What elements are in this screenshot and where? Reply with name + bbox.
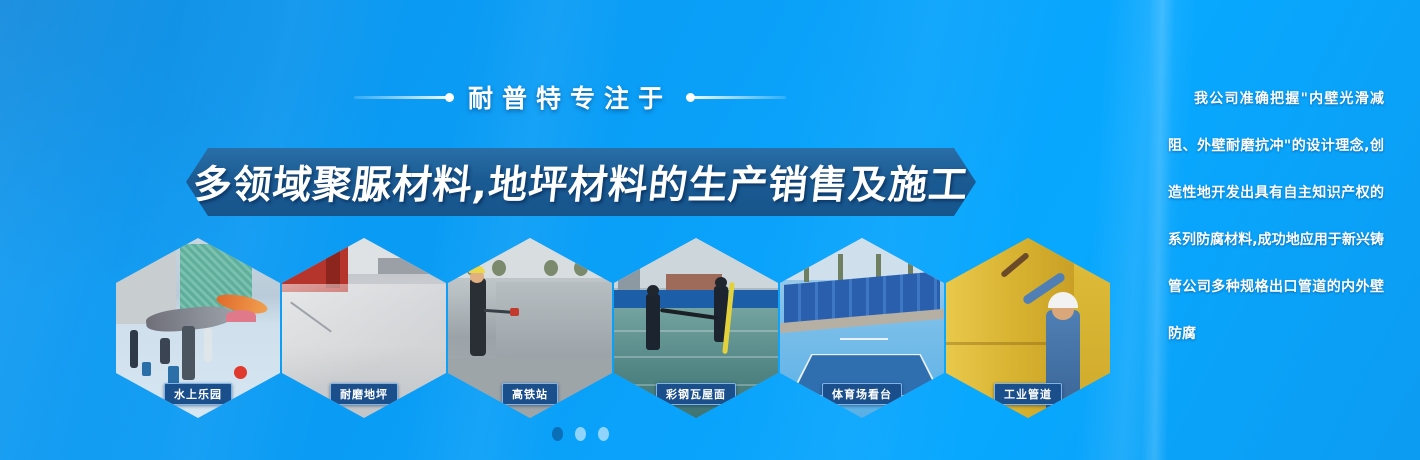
- decorative-line-right: [690, 96, 786, 99]
- company-description-text: 我公司准确把握"内壁光滑减阻、外壁耐磨抗冲"的设计理念,创造性地开发出具有自主知…: [1168, 76, 1384, 358]
- eyebrow-text: 耐普特专注于: [468, 79, 672, 115]
- carousel-indicators[interactable]: [0, 424, 1160, 444]
- gallery-item-high-speed-rail-station[interactable]: 高铁站: [448, 238, 612, 418]
- gallery-item-wear-resistant-floor[interactable]: 耐磨地坪: [282, 238, 446, 418]
- carousel-dot-1[interactable]: [552, 427, 563, 441]
- gallery-caption: 耐磨地坪: [330, 383, 398, 405]
- gallery-item-water-park[interactable]: 水上乐园: [116, 238, 280, 418]
- decorative-line-left: [354, 96, 450, 99]
- eyebrow-headline: 耐普特专注于: [0, 80, 1140, 114]
- project-gallery: 水上乐园 耐磨地坪 高铁站: [116, 238, 1126, 418]
- gallery-item-stadium-grandstand[interactable]: 体育场看台: [780, 238, 944, 418]
- company-description: 我公司准确把握"内壁光滑减阻、外壁耐磨抗冲"的设计理念,创造性地开发出具有自主知…: [1168, 76, 1384, 358]
- carousel-dot-3[interactable]: [598, 427, 609, 441]
- gallery-caption: 水上乐园: [164, 383, 232, 405]
- title-banner: 多领域聚脲材料,地坪材料的生产销售及施工: [186, 148, 976, 216]
- gallery-item-industrial-pipeline[interactable]: 工业管道: [946, 238, 1110, 418]
- hero-banner: 耐普特专注于 多领域聚脲材料,地坪材料的生产销售及施工 我公司准确把握"内壁光滑…: [0, 0, 1420, 460]
- gallery-caption: 工业管道: [994, 383, 1062, 405]
- carousel-dot-2[interactable]: [575, 427, 586, 441]
- gallery-caption: 彩钢瓦屋面: [656, 383, 736, 405]
- gallery-item-color-steel-tile-roof[interactable]: 彩钢瓦屋面: [614, 238, 778, 418]
- page-title: 多领域聚脲材料,地坪材料的生产销售及施工: [190, 154, 972, 210]
- gallery-caption: 体育场看台: [822, 383, 902, 405]
- gallery-caption: 高铁站: [502, 383, 558, 405]
